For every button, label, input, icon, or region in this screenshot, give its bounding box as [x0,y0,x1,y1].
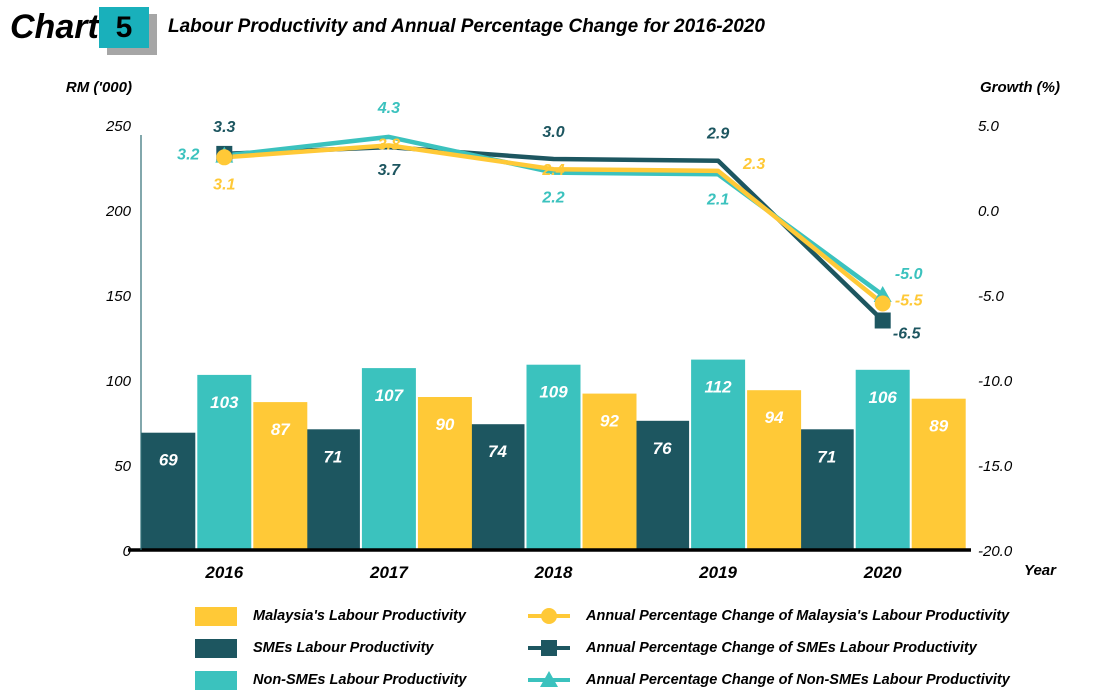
chart-legend: Malaysia's Labour ProductivitySMEs Labou… [0,598,1093,696]
chart-plot-area: RM ('000)Growth (%)Year050100150200250-2… [0,62,1093,596]
bar-value-label: 89 [929,417,948,436]
category-label: 2018 [534,563,573,582]
bar-value-label: 71 [817,447,836,466]
bar-value-label: 74 [488,442,507,461]
point-value-label: 2.9 [706,126,729,143]
left-tick-label: 200 [105,203,132,220]
point-value-label: 2.3 [742,156,765,173]
left-tick-label: 50 [114,458,131,475]
bar-value-label: 92 [600,412,619,431]
line-marker-circle [216,149,232,165]
point-value-label: 3.0 [542,124,564,141]
bar-value-label: 109 [539,383,568,402]
point-value-label: 3.3 [213,119,235,136]
legend-marker-circle [528,606,570,626]
point-value-label: 4.3 [377,100,400,117]
legend-bar-item[interactable]: SMEs Labour Productivity [195,634,433,662]
left-tick-label: 150 [106,288,132,305]
bar-value-label: 76 [653,439,672,458]
left-axis-title: RM ('000) [66,79,132,96]
right-tick-label: -10.0 [978,373,1013,390]
legend-line-item[interactable]: Annual Percentage Change of SMEs Labour … [528,634,977,662]
right-axis-title: Growth (%) [980,79,1060,96]
point-value-label: 2.1 [706,191,729,208]
right-tick-label: -20.0 [978,543,1013,560]
category-label: 2016 [204,563,243,582]
chart-header: Chart 5 Labour Productivity and Annual P… [0,0,1093,62]
x-axis-title: Year [1024,562,1057,579]
point-value-label: -5.0 [895,266,923,283]
bar-value-label: 90 [435,415,454,434]
right-tick-label: -5.0 [978,288,1005,305]
right-tick-label: 0.0 [978,203,1000,220]
bar-value-label: 69 [159,451,178,470]
line-marker-circle [875,296,891,312]
legend-swatch [195,671,237,690]
legend-marker-square [528,638,570,658]
left-tick-label: 100 [106,373,132,390]
point-value-label: 3.8 [378,136,400,153]
chart-label: Chart [10,8,99,47]
chart-canvas: RM ('000)Growth (%)Year050100150200250-2… [0,62,1093,596]
right-tick-label: 5.0 [978,118,1000,135]
bar-value-label: 94 [765,408,784,427]
legend-label: Annual Percentage Change of Non-SMEs Lab… [586,672,1010,688]
category-label: 2017 [369,563,409,582]
point-value-label: -6.5 [893,326,922,343]
bar-value-label: 103 [210,393,239,412]
legend-bar-item[interactable]: Non-SMEs Labour Productivity [195,666,467,694]
bar-value-label: 87 [271,420,291,439]
legend-line-item[interactable]: Annual Percentage Change of Non-SMEs Lab… [528,666,1010,694]
legend-swatch [195,639,237,658]
left-tick-label: 250 [105,118,132,135]
page-title: Labour Productivity and Annual Percentag… [168,16,765,38]
point-value-label: 2.2 [541,190,564,207]
category-label: 2019 [698,563,737,582]
legend-label: Malaysia's Labour Productivity [253,608,466,624]
bar-value-label: 107 [375,386,405,405]
bar-value-label: 112 [705,378,733,397]
bar-value-label: 106 [869,388,898,407]
legend-label: Annual Percentage Change of Malaysia's L… [586,608,1009,624]
point-value-label: 3.1 [213,176,235,193]
bar-value-label: 71 [323,447,342,466]
legend-bar-item[interactable]: Malaysia's Labour Productivity [195,602,466,630]
point-value-label: 3.2 [177,147,199,164]
point-value-label: -5.5 [895,293,924,310]
point-value-label: 2.4 [541,162,564,179]
legend-marker-triangle [528,670,570,690]
legend-label: Annual Percentage Change of SMEs Labour … [586,640,977,656]
category-label: 2020 [863,563,902,582]
chart-number: 5 [99,7,149,48]
point-value-label: 3.7 [378,162,401,179]
legend-label: Non-SMEs Labour Productivity [253,672,467,688]
line-marker-square [875,313,891,329]
legend-swatch [195,607,237,626]
legend-line-item[interactable]: Annual Percentage Change of Malaysia's L… [528,602,1009,630]
legend-label: SMEs Labour Productivity [253,640,433,656]
right-tick-label: -15.0 [978,458,1013,475]
